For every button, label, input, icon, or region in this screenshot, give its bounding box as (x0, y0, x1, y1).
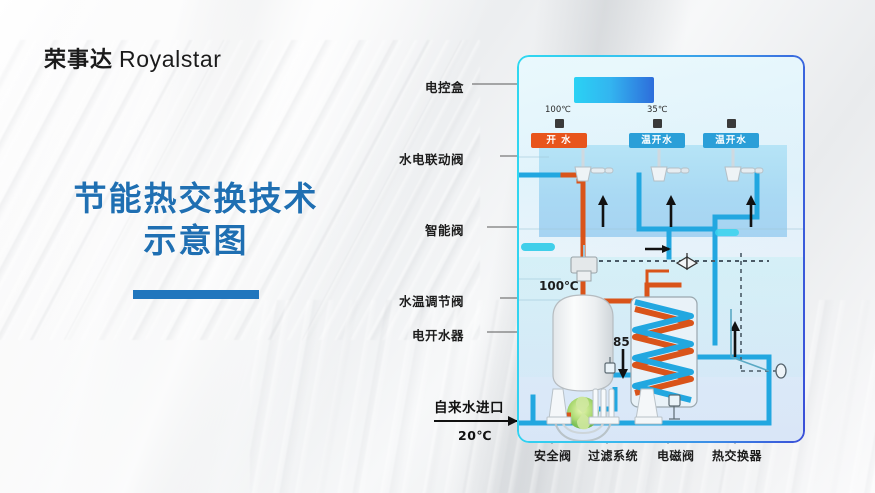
diagram-slide: 荣事达Royalstar 节能热交换技术 示意图 电控盒 水电联动阀 智能阀 水… (0, 0, 875, 493)
filter-system-unit (589, 389, 619, 424)
plumbing-schematic (519, 57, 803, 441)
inlet-arrow (434, 416, 518, 426)
tap-assembly-warm-1 (651, 149, 689, 181)
tap-fittings (575, 149, 763, 181)
tap-assembly-boiling (575, 149, 613, 181)
appliance-interior: 100℃ 开 水 35℃ 温开水 温开水 100℃ 85℃ (519, 57, 803, 441)
temp-regulating-valve (571, 245, 597, 281)
appliance-frame: 100℃ 开 水 35℃ 温开水 温开水 100℃ 85℃ (517, 55, 805, 443)
safety-valve-unit (547, 389, 571, 424)
drain-pipe (731, 309, 769, 371)
relief-valve-symbol (677, 253, 697, 269)
smart-valve-indicator (521, 229, 739, 251)
drain-outlet-port (776, 364, 786, 378)
